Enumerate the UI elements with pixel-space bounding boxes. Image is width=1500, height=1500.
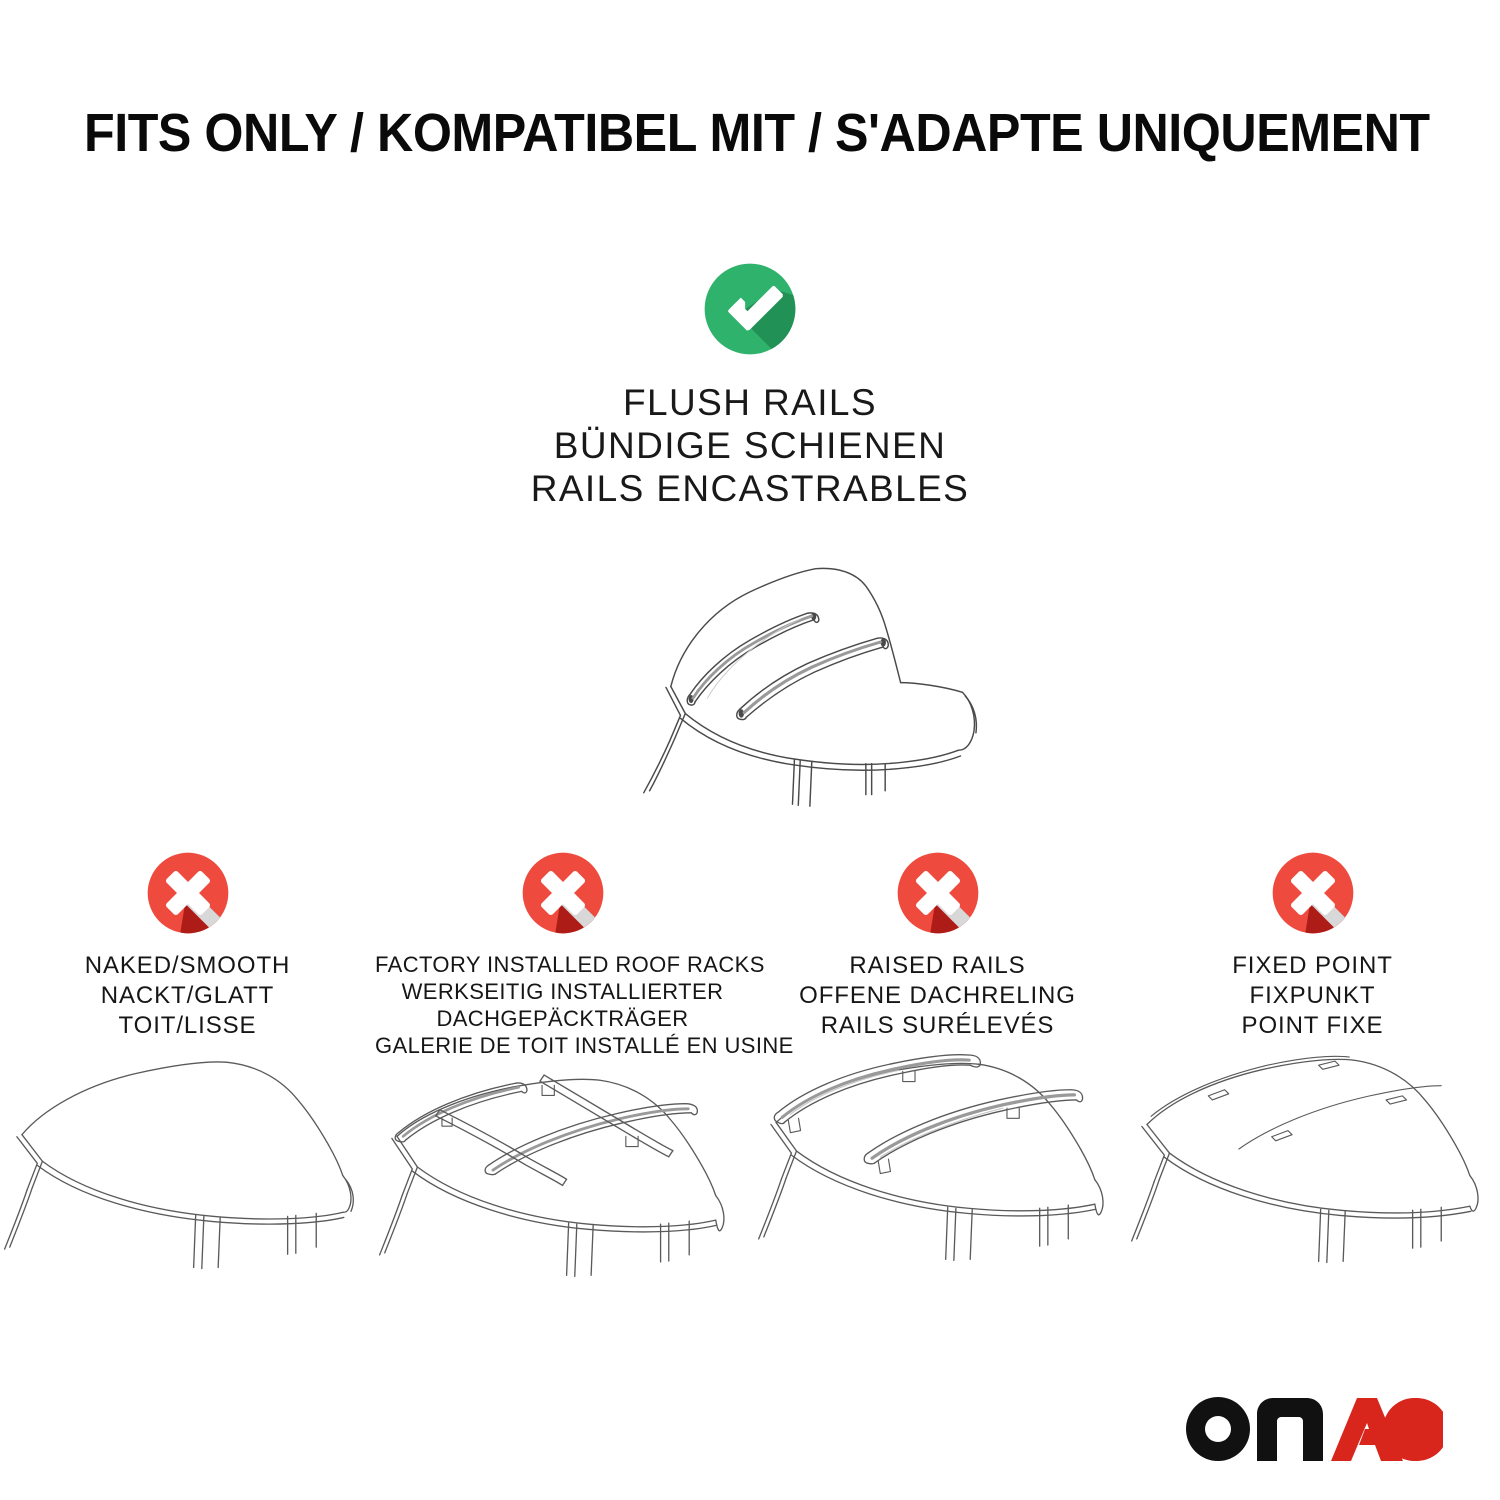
car-roof-with-flush-rails-illustration [0,532,1500,812]
car-roof-with-fixed-points-illustration [1125,1055,1500,1290]
label-line-2: FIXPUNKT [1125,981,1500,1011]
incompatible-labels-factory-roof-racks: FACTORY INSTALLED ROOF RACKS WERKSEITIG … [375,951,750,1059]
label-line-1: FIXED POINT [1125,951,1500,981]
incompatible-column-factory-roof-racks: FACTORY INSTALLED ROOF RACKS WERKSEITIG … [375,845,750,1308]
label-line-1: FACTORY INSTALLED ROOF RACKS [375,951,750,978]
compatible-label-line-1: FLUSH RAILS [0,381,1500,424]
label-line-2: OFFENE DACHRELING [750,981,1125,1011]
logo-letter-c [1383,1398,1443,1461]
compatible-labels: FLUSH RAILS BÜNDIGE SCHIENEN RAILS ENCAS… [0,381,1500,510]
compatible-section: FLUSH RAILS BÜNDIGE SCHIENEN RAILS ENCAS… [0,255,1500,812]
car-roof-with-raised-rails-illustration [750,1055,1125,1290]
label-line-3: DACHGEPÄCKTRÄGER [375,1005,750,1032]
green-check-circle-icon [696,255,804,363]
red-cross-circle-icon [1265,845,1361,941]
red-cross-circle-icon [140,845,236,941]
logo-letter-m [1257,1398,1323,1461]
label-line-1: NAKED/SMOOTH [0,951,375,981]
incompatible-labels-raised-rails: RAISED RAILS OFFENE DACHRELING RAILS SUR… [750,951,1125,1041]
label-line-1: RAISED RAILS [750,951,1125,981]
label-line-3: RAILS SURÉLEVÉS [750,1011,1125,1041]
compatible-label-line-3: RAILS ENCASTRABLES [0,467,1500,510]
label-line-3: TOIT/LISSE [0,1011,375,1041]
incompatible-column-naked-smooth: NAKED/SMOOTH NACKT/GLATT TOIT/LISSE [0,845,375,1290]
car-roof-naked-smooth-illustration [0,1055,375,1290]
red-cross-circle-icon [515,845,611,941]
incompatible-labels-fixed-point: FIXED POINT FIXPUNKT POINT FIXE [1125,951,1500,1041]
label-line-2: WERKSEITIG INSTALLIERTER [375,978,750,1005]
label-line-2: NACKT/GLATT [0,981,375,1011]
red-cross-circle-icon [890,845,986,941]
incompatible-column-raised-rails: RAISED RAILS OFFENE DACHRELING RAILS SUR… [750,845,1125,1290]
logo-letter-o [1186,1397,1250,1461]
label-line-3: POINT FIXE [1125,1011,1500,1041]
omac-logo [1185,1396,1445,1462]
car-roof-with-factory-roof-racks-illustration [375,1073,750,1308]
page-title: FITS ONLY / KOMPATIBEL MIT / S'ADAPTE UN… [84,104,1330,162]
incompatible-column-fixed-point: FIXED POINT FIXPUNKT POINT FIXE [1125,845,1500,1290]
label-line-4: GALERIE DE TOIT INSTALLÉ EN USINE [375,1032,750,1059]
incompatible-sections: NAKED/SMOOTH NACKT/GLATT TOIT/LISSE [0,845,1500,1308]
compatible-label-line-2: BÜNDIGE SCHIENEN [0,424,1500,467]
incompatible-labels-naked-smooth: NAKED/SMOOTH NACKT/GLATT TOIT/LISSE [0,951,375,1041]
